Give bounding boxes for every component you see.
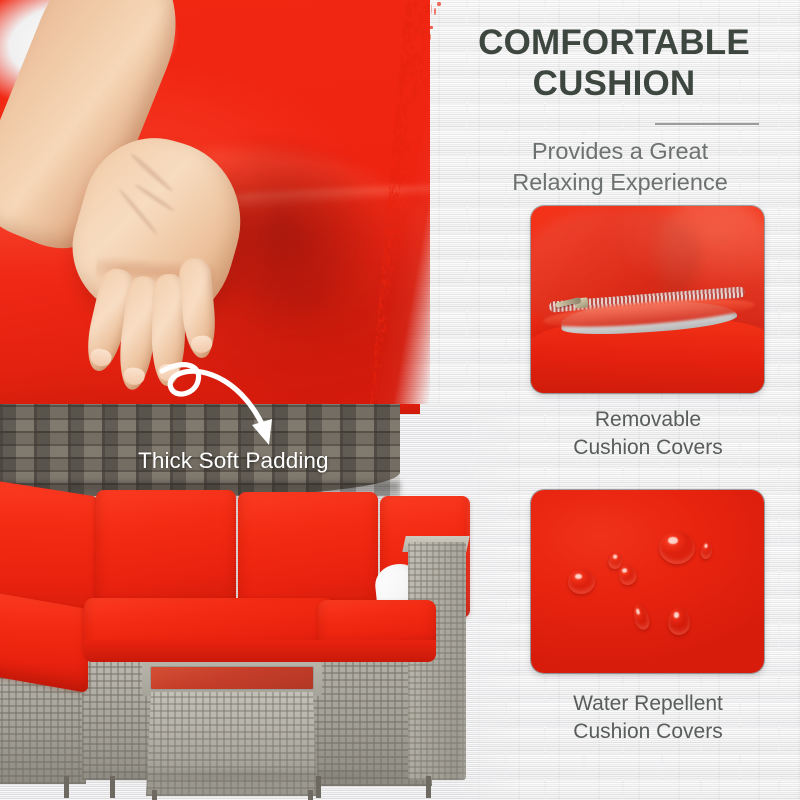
feature-image-water-repellent <box>531 490 764 673</box>
seat-cushion-front <box>84 640 436 662</box>
headline-line-1: COMFORTABLE <box>440 22 788 63</box>
thick-soft-padding-label: Thick Soft Padding <box>138 448 329 474</box>
caption-line-2: Cushion Covers <box>516 718 780 746</box>
title-divider <box>655 123 759 125</box>
feature-caption-removable-covers: Removable Cushion Covers <box>516 406 780 462</box>
ground-shadow <box>30 772 450 790</box>
table-leg <box>152 790 157 800</box>
page-subtitle: Provides a Great Relaxing Experience <box>452 136 788 198</box>
corner-seat-cushion <box>0 591 88 693</box>
fingernail <box>190 335 212 354</box>
subtitle-line-2: Relaxing Experience <box>452 167 788 198</box>
page-title: COMFORTABLE CUSHION <box>440 22 788 105</box>
coffee-table-glass-top <box>150 666 314 690</box>
caption-line-1: Removable <box>516 406 780 434</box>
water-droplet-icon <box>668 607 690 635</box>
product-feature-graphic: Thick Soft Padding COMFORTABLE CUSHION P… <box>0 0 800 800</box>
table-leg <box>308 790 313 800</box>
feature-caption-water-repellent: Water Repellent Cushion Covers <box>516 690 780 746</box>
caption-line-1: Water Repellent <box>516 690 780 718</box>
water-droplet-icon <box>568 569 595 594</box>
feature-image-removable-covers <box>531 206 764 393</box>
water-droplet-icon <box>659 531 695 564</box>
caption-line-2: Cushion Covers <box>516 434 780 462</box>
cushion-cover-fabric <box>531 490 764 673</box>
back-cushion <box>96 490 236 612</box>
subtitle-line-1: Provides a Great <box>452 136 788 167</box>
headline-line-2: CUSHION <box>440 63 788 104</box>
